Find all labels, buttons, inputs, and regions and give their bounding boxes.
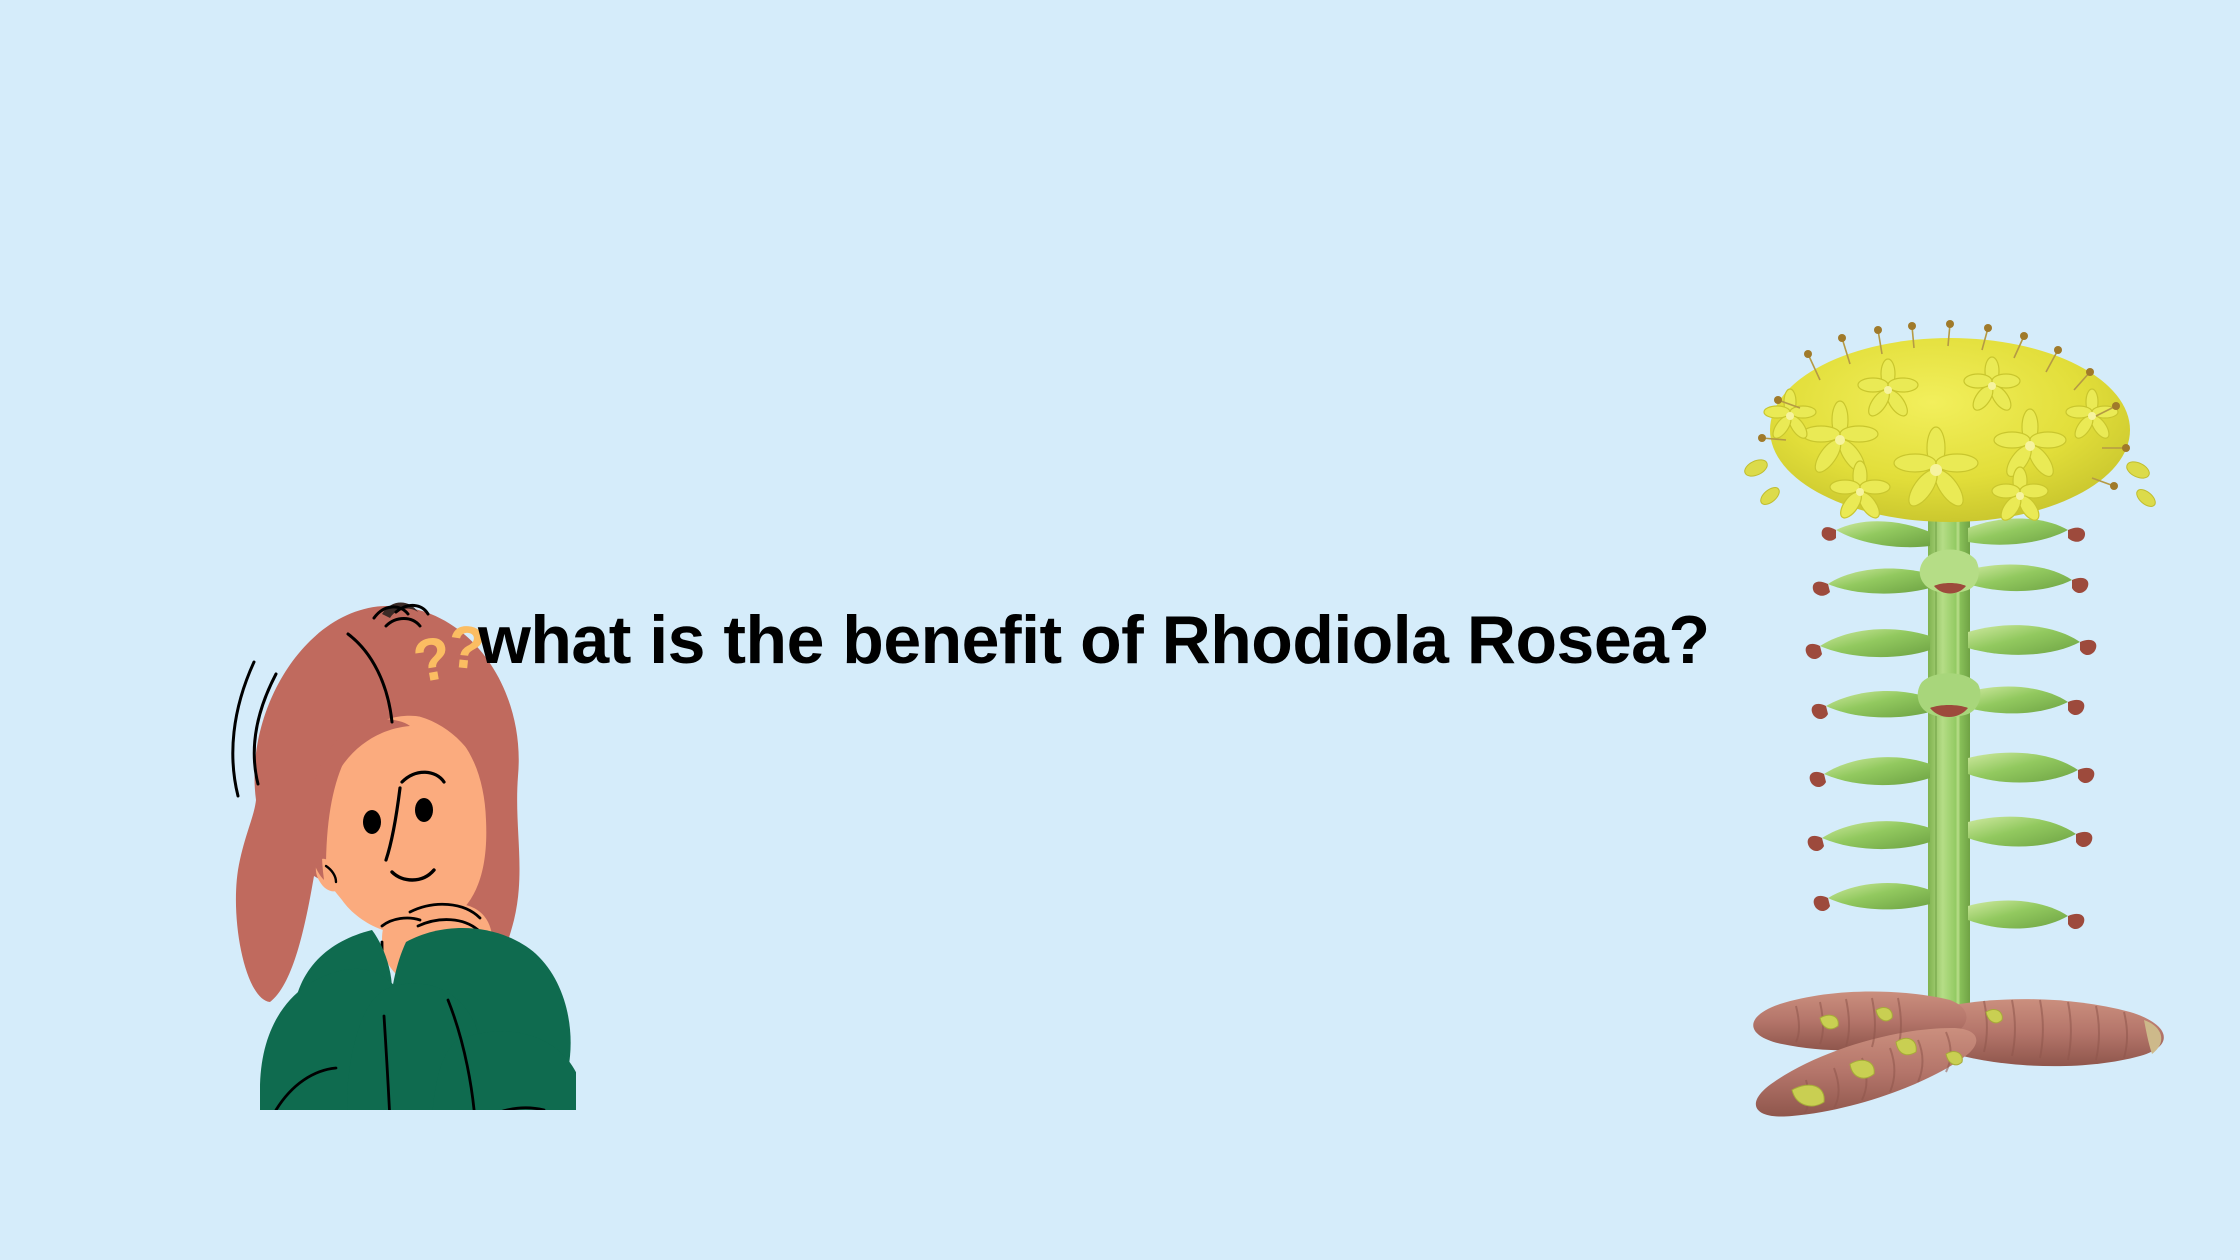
banner-canvas: ? ? what is the benefit of Rhodiola Rose… [0,0,2240,1260]
plant-root-rhizome [1753,991,2164,1116]
plant-flower-cluster [1742,320,2158,523]
page-title: what is the benefit of Rhodiola Rosea? [478,588,1878,692]
woman-sweater [260,928,576,1110]
rhodiola-rosea-illustration [1700,320,2200,1120]
